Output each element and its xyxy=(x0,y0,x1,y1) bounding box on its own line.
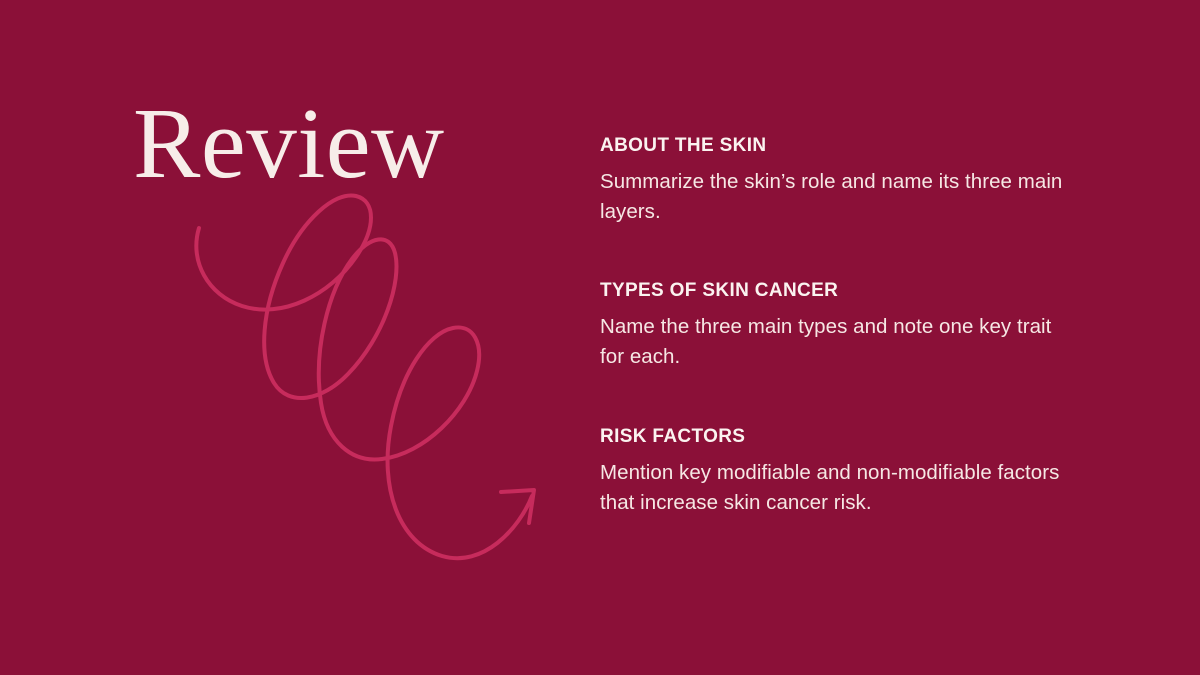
content-block-types-of-skin-cancer: TYPES OF SKIN CANCER Name the three main… xyxy=(600,279,1078,372)
block-body: Mention key modifiable and non-modifiabl… xyxy=(600,458,1078,519)
content-block-about-the-skin: ABOUT THE SKIN Summarize the skin’s role… xyxy=(600,134,1078,227)
block-heading: ABOUT THE SKIN xyxy=(600,134,1078,158)
looping-curl-arrow-icon xyxy=(170,185,570,585)
block-heading: RISK FACTORS xyxy=(600,425,1078,449)
slide-canvas: Review ABOUT THE SKIN Summarize the skin… xyxy=(0,0,1200,675)
block-body: Name the three main types and note one k… xyxy=(600,312,1078,373)
content-column: ABOUT THE SKIN Summarize the skin’s role… xyxy=(600,134,1078,518)
content-block-risk-factors: RISK FACTORS Mention key modifiable and … xyxy=(600,425,1078,518)
left-column: Review xyxy=(0,0,580,675)
page-title: Review xyxy=(133,93,445,194)
block-heading: TYPES OF SKIN CANCER xyxy=(600,279,1078,303)
block-body: Summarize the skin’s role and name its t… xyxy=(600,167,1078,228)
